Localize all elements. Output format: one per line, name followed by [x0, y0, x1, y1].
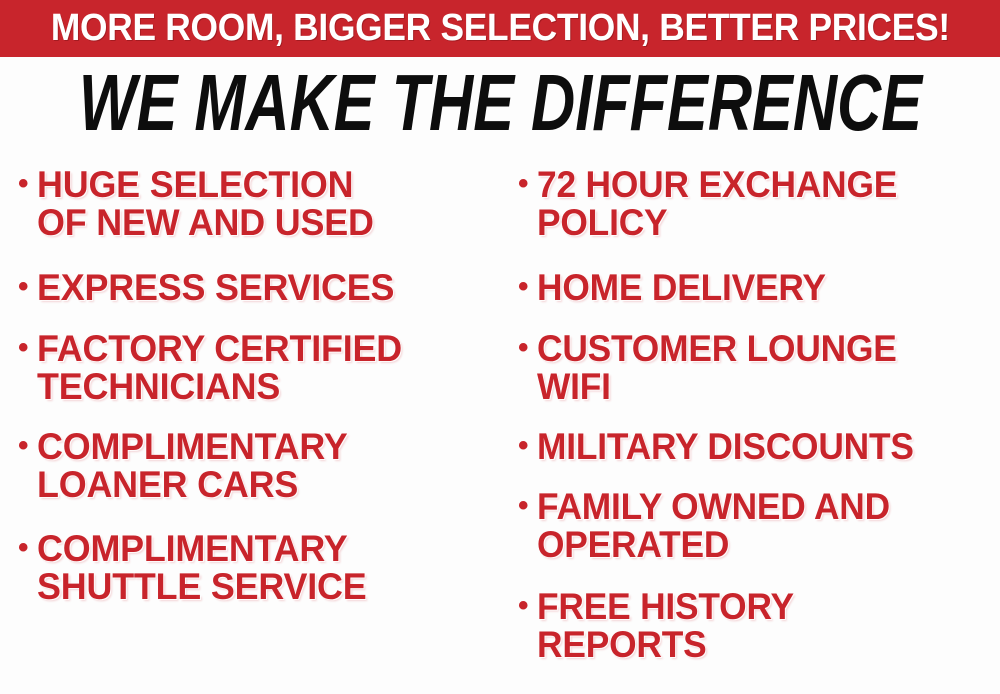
bullet-icon: • — [518, 588, 528, 623]
list-item: • MILITARY DISCOUNTS — [518, 428, 932, 466]
bullet-icon: • — [18, 166, 28, 201]
list-item: • FAMILY OWNED AND OPERATED — [518, 488, 907, 564]
list-item-label: HUGE SELECTION OF NEW AND USED — [37, 166, 374, 242]
page-title: WE MAKE THE DIFFERENCE — [78, 63, 921, 143]
promotional-poster: MORE ROOM, BIGGER SELECTION, BETTER PRIC… — [0, 0, 1000, 694]
list-item: • HUGE SELECTION OF NEW AND USED — [18, 166, 384, 242]
list-item-label: FREE HISTORY REPORTS — [537, 588, 794, 664]
list-item: • COMPLIMENTARY LOANER CARS — [18, 428, 357, 504]
list-item: • CUSTOMER LOUNGE WIFI — [518, 330, 914, 406]
list-item-label: 72 HOUR EXCHANGE POLICY — [537, 166, 897, 242]
list-item-label: CUSTOMER LOUNGE WIFI — [537, 330, 897, 406]
list-item-label: MILITARY DISCOUNTS — [537, 428, 914, 466]
top-banner: MORE ROOM, BIGGER SELECTION, BETTER PRIC… — [0, 0, 1000, 57]
list-item-label: FACTORY CERTIFIED TECHNICIANS — [37, 330, 402, 406]
list-item-label: HOME DELIVERY — [537, 269, 826, 307]
bullet-icon: • — [18, 330, 28, 365]
list-item: • FREE HISTORY REPORTS — [518, 588, 806, 664]
list-item: • 72 HOUR EXCHANGE POLICY — [518, 166, 914, 242]
bullet-icon: • — [518, 166, 528, 201]
benefits-columns: • HUGE SELECTION OF NEW AND USED • EXPRE… — [0, 158, 1000, 694]
list-item: • COMPLIMENTARY SHUTTLE SERVICE — [18, 530, 377, 606]
list-item-label: COMPLIMENTARY SHUTTLE SERVICE — [37, 530, 366, 606]
bullet-icon: • — [18, 530, 28, 565]
bullet-icon: • — [18, 428, 28, 463]
list-item-label: COMPLIMENTARY LOANER CARS — [37, 428, 348, 504]
list-item: • HOME DELIVERY — [518, 269, 840, 307]
list-item-label: FAMILY OWNED AND OPERATED — [537, 488, 890, 564]
bullet-icon: • — [518, 330, 528, 365]
list-item-label: EXPRESS SERVICES — [37, 269, 394, 307]
bullet-icon: • — [518, 428, 528, 463]
headline-container: WE MAKE THE DIFFERENCE — [0, 62, 1000, 144]
banner-headline-text: MORE ROOM, BIGGER SELECTION, BETTER PRIC… — [50, 9, 949, 49]
bullet-icon: • — [518, 269, 528, 304]
bullet-icon: • — [18, 269, 28, 304]
bullet-icon: • — [518, 488, 528, 523]
list-item: • EXPRESS SERVICES — [18, 269, 406, 307]
list-item: • FACTORY CERTIFIED TECHNICIANS — [18, 330, 414, 406]
